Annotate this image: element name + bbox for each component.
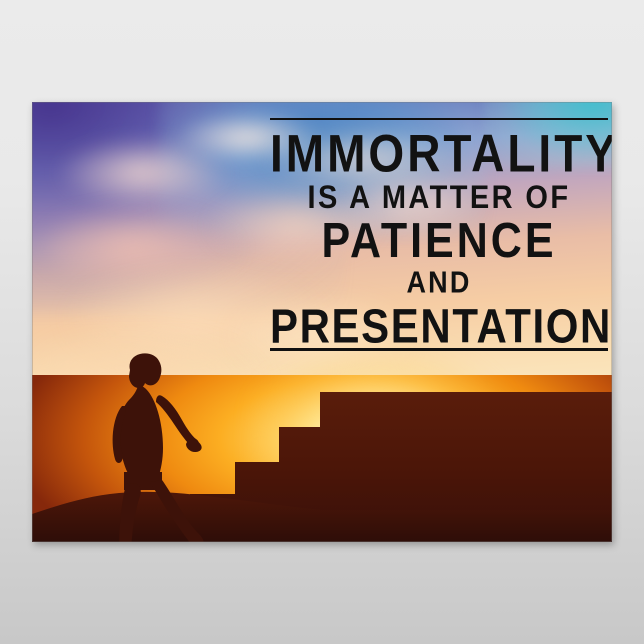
quote-line-presentation: PRESENTATION [270,302,608,350]
sun-glow-band [32,375,612,542]
quote-line-immortality: IMMORTALITY [270,127,608,179]
poster-image: IMMORTALITY IS A MATTER OF PATIENCE AND … [32,102,612,542]
quote-line-is-a-matter-of: IS A MATTER OF [270,182,608,214]
quote-line-and: AND [270,268,608,298]
screenshot-canvas: IMMORTALITY IS A MATTER OF PATIENCE AND … [0,0,644,644]
quote-top-rule [270,118,608,120]
quote-line-patience: PATIENCE [270,217,608,266]
quote-text-block: IMMORTALITY IS A MATTER OF PATIENCE AND … [270,118,608,351]
